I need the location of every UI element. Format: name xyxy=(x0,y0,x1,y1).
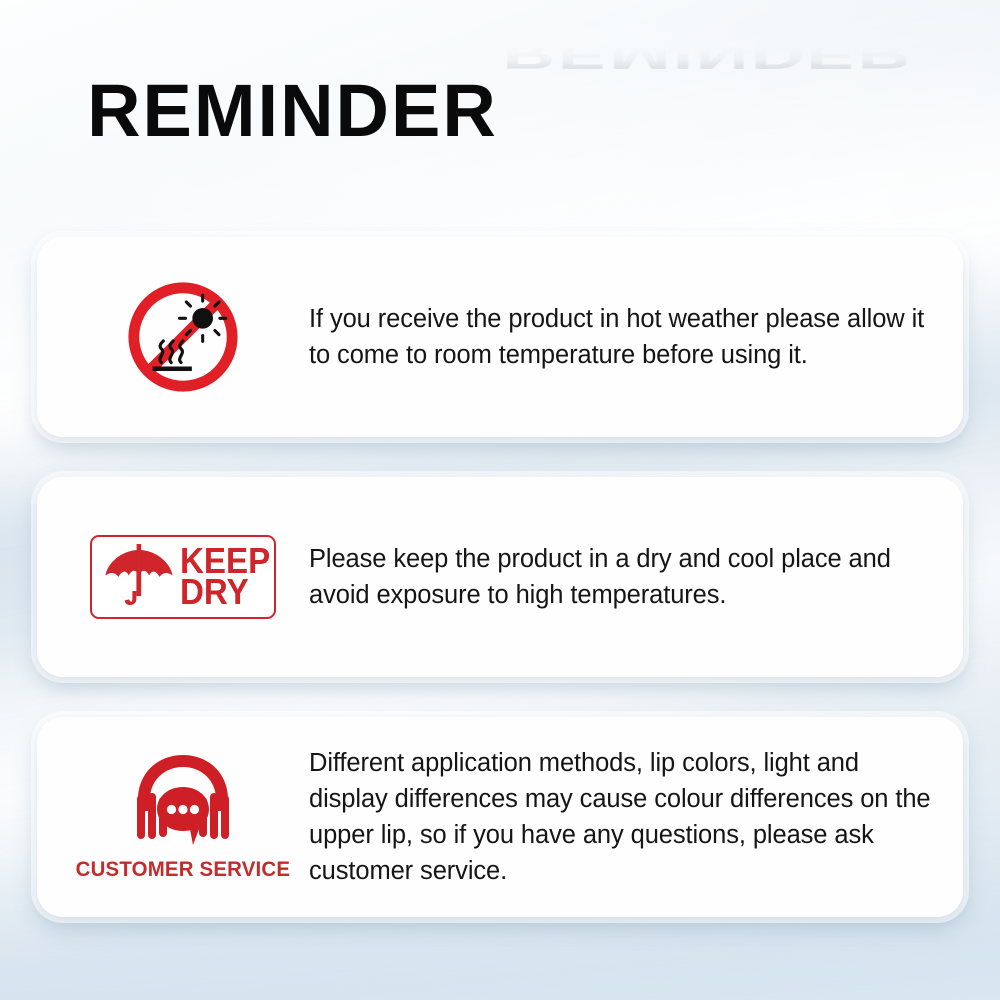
keep-dry-line-2: DRY xyxy=(180,577,249,608)
keep-dry-icon: KEEP DRY xyxy=(90,535,276,619)
reminder-card: KEEP DRY Please keep the product in a dr… xyxy=(37,477,963,677)
umbrella-glyph xyxy=(103,544,175,610)
customer-service-label: CUSTOMER SERVICE xyxy=(76,857,291,882)
card-icon-column xyxy=(63,278,303,396)
card-icon-column: KEEP DRY xyxy=(63,535,303,619)
reminder-page: REMINDER REMINDER xyxy=(0,0,1000,1000)
keep-dry-wordmark: KEEP DRY xyxy=(178,546,278,608)
card-description: Different application methods, lip color… xyxy=(309,745,935,890)
umbrella-icon xyxy=(100,544,178,610)
card-content: KEEP DRY Please keep the product in a dr… xyxy=(37,477,963,677)
card-text-column: Different application methods, lip color… xyxy=(303,745,945,890)
card-description: If you receive the product in hot weathe… xyxy=(309,301,935,373)
reminder-card: CUSTOMER SERVICE Different application m… xyxy=(37,717,963,917)
card-description: Please keep the product in a dry and coo… xyxy=(309,541,935,613)
card-content: CUSTOMER SERVICE Different application m… xyxy=(37,717,963,917)
card-text-column: Please keep the product in a dry and coo… xyxy=(303,541,945,613)
no-heat-no-sun-icon xyxy=(124,278,242,396)
customer-service-headset-icon xyxy=(127,753,239,847)
page-title: REMINDER xyxy=(87,74,498,148)
card-content: If you receive the product in hot weathe… xyxy=(37,237,963,437)
reminder-card: If you receive the product in hot weathe… xyxy=(37,237,963,437)
card-text-column: If you receive the product in hot weathe… xyxy=(303,301,945,373)
card-icon-column: CUSTOMER SERVICE xyxy=(63,753,303,882)
page-title-block: REMINDER REMINDER xyxy=(0,72,1000,148)
